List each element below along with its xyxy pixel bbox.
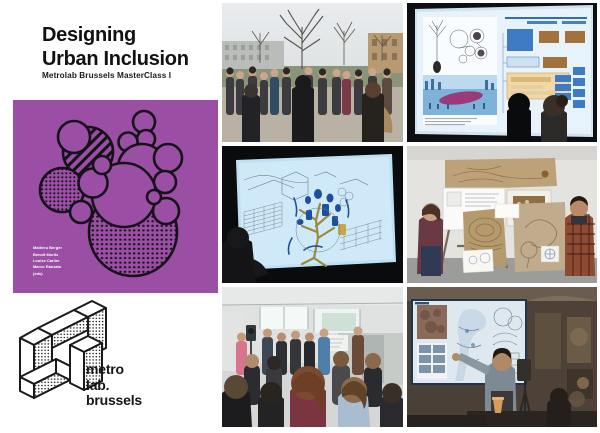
photo-projected-axonometric-drawing-image bbox=[222, 146, 403, 283]
photo-projected-axonometric-drawing bbox=[222, 146, 403, 283]
photo-lecture-pointing-at-screen bbox=[407, 287, 597, 427]
photo-seminar-room-audience-image bbox=[222, 287, 403, 427]
poster-canvas: Designing Urban Inclusion Metrolab Bruss… bbox=[0, 0, 600, 433]
cover-subtitle: Metrolab Brussels MasterClass I bbox=[42, 71, 217, 80]
credit-editors-label: (eds) bbox=[33, 271, 62, 277]
credit-name: Marco Ranzato bbox=[33, 264, 62, 270]
cover-artwork-panel: Mathieu Berger Benoit Moritz Louise Carl… bbox=[13, 100, 218, 293]
credit-name: Mathieu Berger bbox=[33, 245, 62, 251]
logo-line-1: metro bbox=[86, 362, 142, 378]
title-line-2: Urban Inclusion bbox=[42, 48, 212, 72]
logo-line-3: brussels bbox=[86, 393, 142, 409]
photo-seminar-room-audience bbox=[222, 287, 403, 427]
metrolab-brussels-logo: metro lab. brussels bbox=[10, 298, 170, 426]
logo-line-2: lab. bbox=[86, 378, 142, 394]
page-title: Designing Urban Inclusion bbox=[42, 24, 212, 71]
book-cover: Designing Urban Inclusion Metrolab Bruss… bbox=[0, 0, 218, 433]
photo-grid bbox=[222, 3, 597, 427]
credits-list: Mathieu Berger Benoit Moritz Louise Carl… bbox=[33, 245, 62, 277]
photo-projected-diagram-presentation-image bbox=[407, 3, 597, 142]
photo-cardboard-panel-review bbox=[407, 146, 597, 283]
title-line-1: Designing bbox=[42, 24, 136, 46]
photo-cardboard-panel-review-image bbox=[407, 146, 597, 283]
photo-outdoor-group-tour-image bbox=[222, 3, 403, 142]
photo-projected-diagram-presentation bbox=[407, 3, 597, 142]
photo-lecture-pointing-at-screen-image bbox=[407, 287, 597, 427]
photo-outdoor-group-tour bbox=[222, 3, 403, 142]
metrolab-wordmark: metro lab. brussels bbox=[86, 362, 142, 409]
